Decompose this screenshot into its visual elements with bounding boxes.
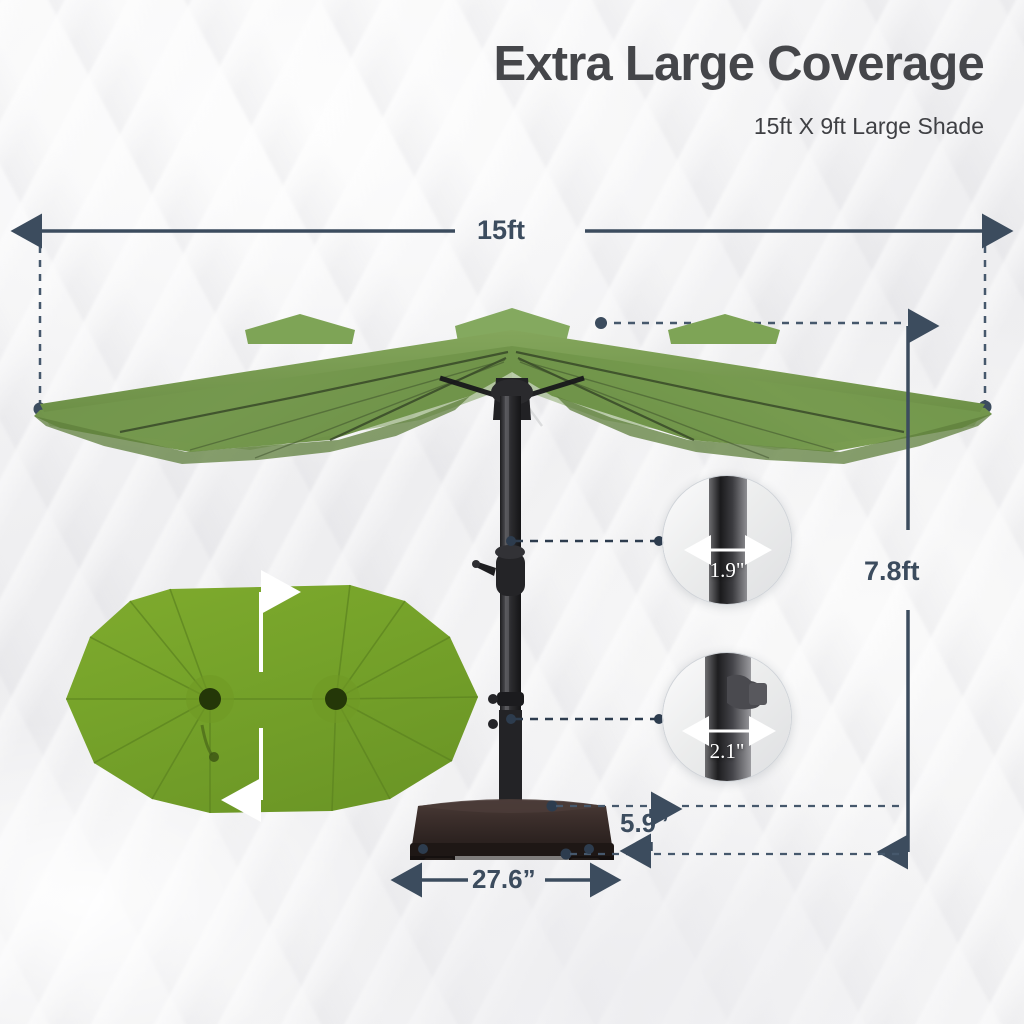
callout-circle-upper-pole: 1.9": [662, 475, 792, 605]
callout-label-upper: 1.9": [663, 558, 791, 583]
infographic-canvas: Extra Large Coverage 15ft X 9ft Large Sh…: [0, 0, 1024, 1024]
callout-circle-lower-pole: 2.1": [662, 652, 792, 782]
callout-label-lower: 2.1": [663, 739, 791, 764]
callout-arrow-upper: [663, 476, 791, 604]
dimension-arrows: [0, 0, 1024, 1024]
